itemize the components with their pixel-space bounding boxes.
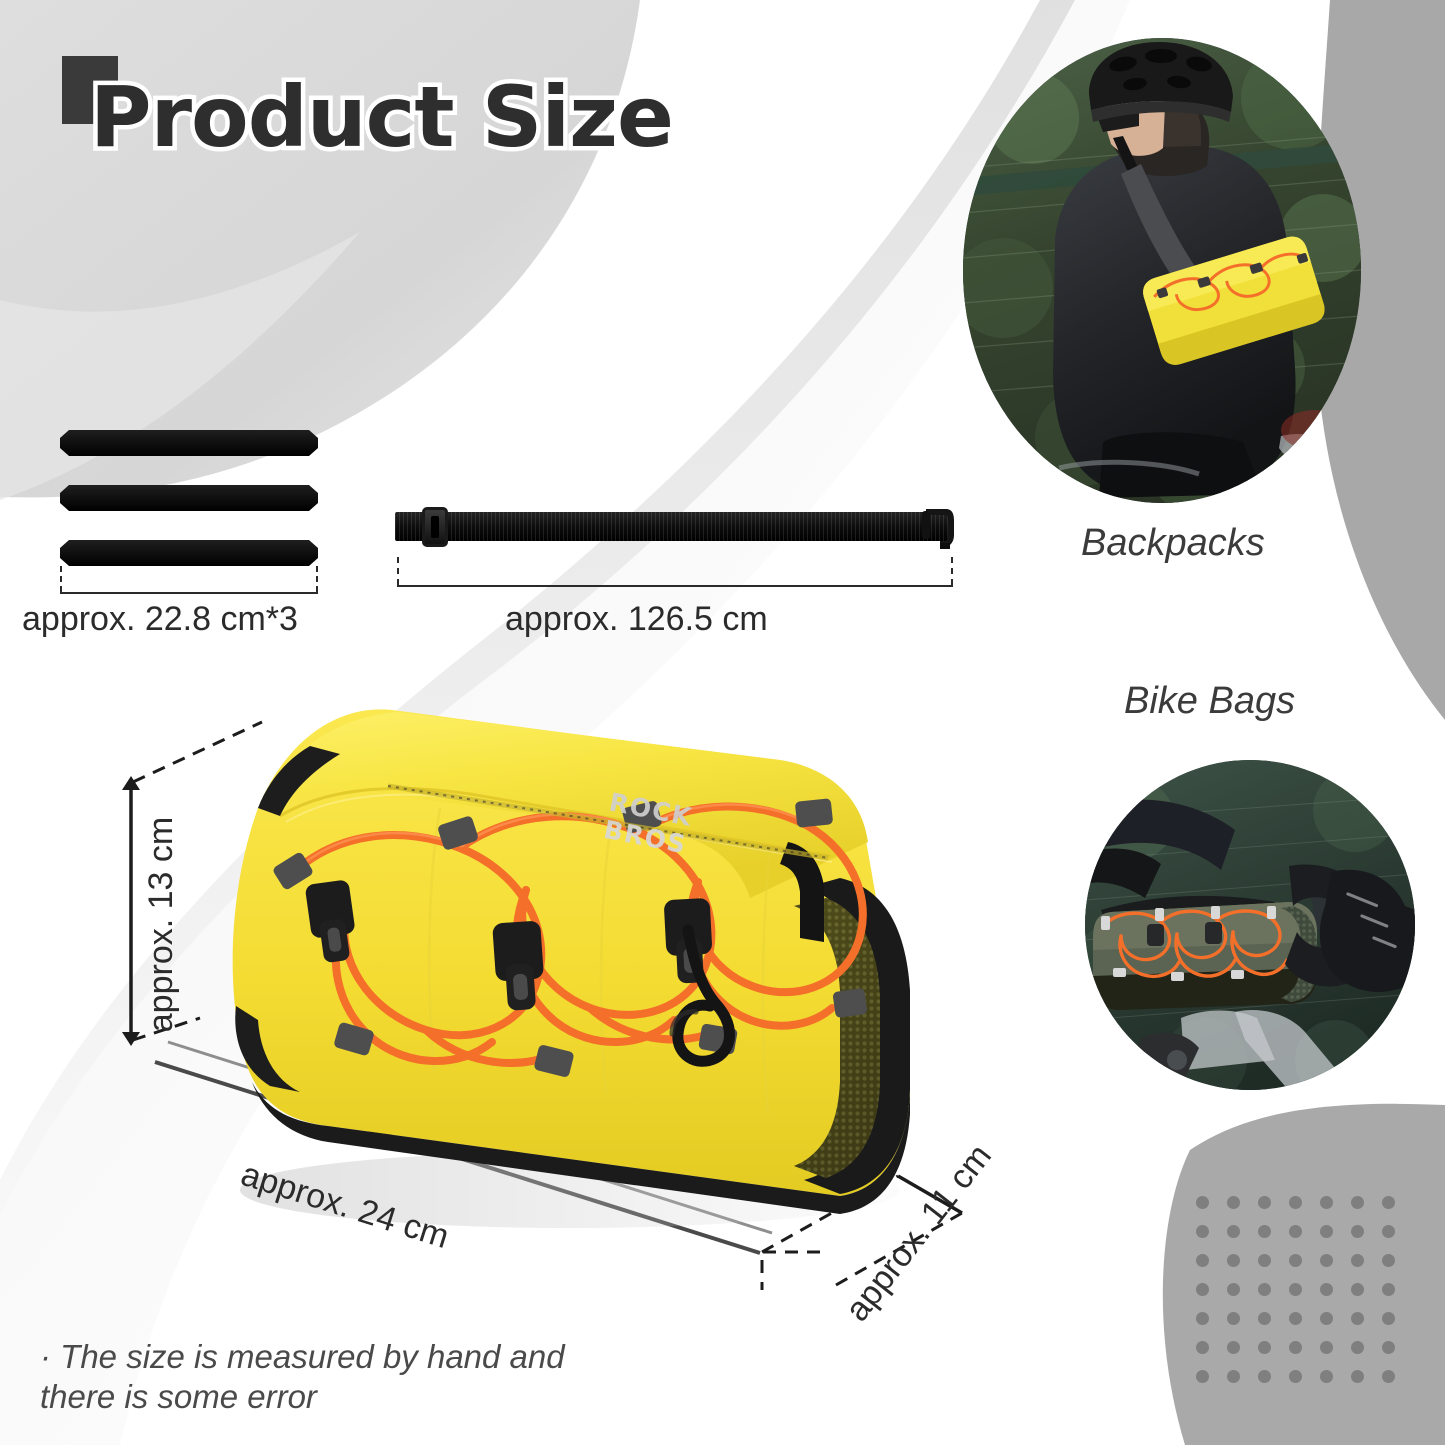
backpack-photo-caption: Backpacks — [1081, 522, 1265, 565]
size-disclaimer: · The size is measured by hand and there… — [40, 1337, 600, 1418]
dim-height-arrow-top — [122, 776, 140, 790]
dimension-label-height: approx. 13 cm — [142, 817, 181, 1032]
backpack-photo — [963, 38, 1361, 503]
bike-bag-photo — [1085, 760, 1415, 1090]
bike-bag-photo-caption: Bike Bags — [1124, 680, 1295, 723]
infographic-canvas: Product Size approx. 22.8 cm*3 approx. 1… — [0, 0, 1445, 1445]
